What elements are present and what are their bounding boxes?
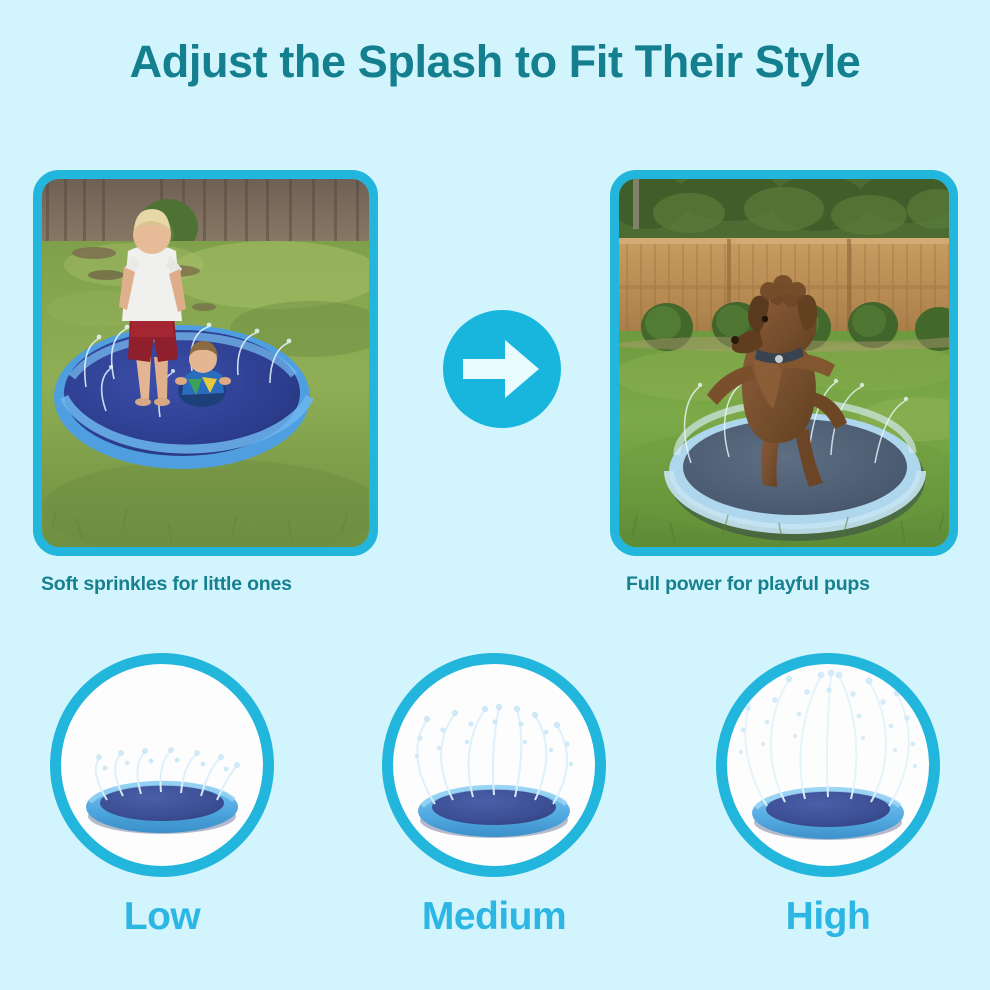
- splash-pad-high-icon: [716, 653, 940, 877]
- arrow-right-icon: [443, 310, 561, 428]
- level-card-medium[interactable]: Medium: [382, 653, 606, 877]
- splash-pad-low-illustration: [61, 664, 263, 866]
- level-label-medium: Medium: [382, 895, 606, 939]
- dog-photo-illustration: [619, 179, 949, 547]
- splash-pad-medium-illustration: [393, 664, 595, 866]
- child-splash-pad-photo: [42, 179, 369, 547]
- splash-pad-high-illustration: [727, 664, 929, 866]
- level-card-high[interactable]: High: [716, 653, 940, 877]
- level-label-high: High: [716, 895, 940, 939]
- photo-card-dog[interactable]: [610, 170, 958, 556]
- infographic-page: Adjust the Splash to Fit Their Style: [0, 0, 990, 990]
- caption-right: Full power for playful pups: [626, 573, 870, 596]
- level-card-low[interactable]: Low: [50, 653, 274, 877]
- caption-left: Soft sprinkles for little ones: [41, 573, 292, 596]
- arrow-right-glyph: [463, 332, 541, 406]
- level-label-low: Low: [50, 895, 274, 939]
- splash-pad-low-icon: [50, 653, 274, 877]
- dog-splash-pad-photo: [619, 179, 949, 547]
- photo-card-child[interactable]: [33, 170, 378, 556]
- splash-pad-medium-icon: [382, 653, 606, 877]
- child-photo-illustration: [42, 179, 369, 547]
- page-title: Adjust the Splash to Fit Their Style: [0, 36, 990, 88]
